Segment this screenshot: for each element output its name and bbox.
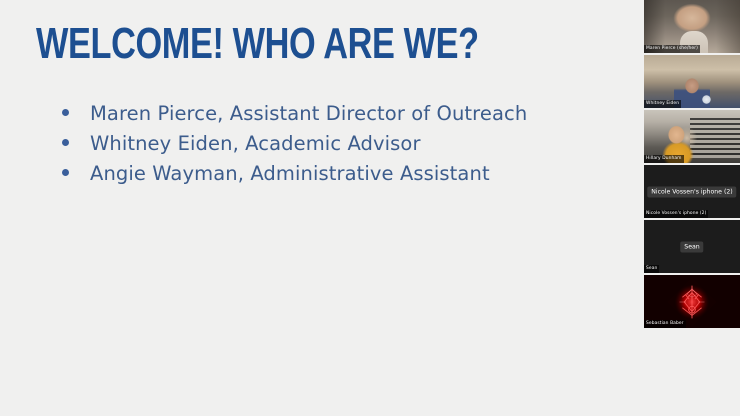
participant-tile[interactable]: Sean Sean [644, 220, 740, 273]
slide-title: Welcome! Who Are We? [36, 22, 479, 66]
participant-tile[interactable]: Maren Pierce (she/her) [644, 0, 740, 53]
bullet-text: Whitney Eiden, Academic Advisor [90, 131, 421, 156]
participant-tile[interactable]: Nicole Vossen's iphone (2) Nicole Vossen… [644, 165, 740, 218]
bullet-dot-icon [62, 169, 69, 176]
participant-center-label: Sean [680, 241, 703, 252]
participant-name-label: Sean [644, 265, 659, 273]
slide-bottom-area [0, 333, 740, 416]
participant-center-label: Nicole Vossen's iphone (2) [647, 186, 736, 197]
participant-name-label: Sebastian Baber [644, 320, 686, 328]
list-item: Angie Wayman, Administrative Assistant [62, 161, 622, 186]
participant-name-label: Whitney Eiden [644, 100, 681, 108]
participant-tile[interactable]: Sebastian Baber [644, 275, 740, 328]
participant-tile[interactable]: Whitney Eiden [644, 55, 740, 108]
participant-name-label: Maren Pierce (she/her) [644, 45, 700, 53]
participant-name-label: Nicole Vossen's iphone (2) [644, 210, 708, 218]
participant-tile[interactable]: Hillary Dunham [644, 110, 740, 163]
kaleidoscope-graphic [668, 278, 716, 326]
bullet-text: Maren Pierce, Assistant Director of Outr… [90, 101, 527, 126]
bullet-dot-icon [62, 109, 69, 116]
list-item: Maren Pierce, Assistant Director of Outr… [62, 101, 622, 126]
bullet-text: Angie Wayman, Administrative Assistant [90, 161, 490, 186]
participant-filmstrip[interactable]: Maren Pierce (she/her) Whitney Eiden Hil… [644, 0, 740, 333]
list-item: Whitney Eiden, Academic Advisor [62, 131, 622, 156]
slide-bullet-list: Maren Pierce, Assistant Director of Outr… [62, 101, 622, 191]
bullet-dot-icon [62, 139, 69, 146]
participant-name-label: Hillary Dunham [644, 155, 684, 163]
screen-share-view: Welcome! Who Are We? Maren Pierce, Assis… [0, 0, 740, 416]
